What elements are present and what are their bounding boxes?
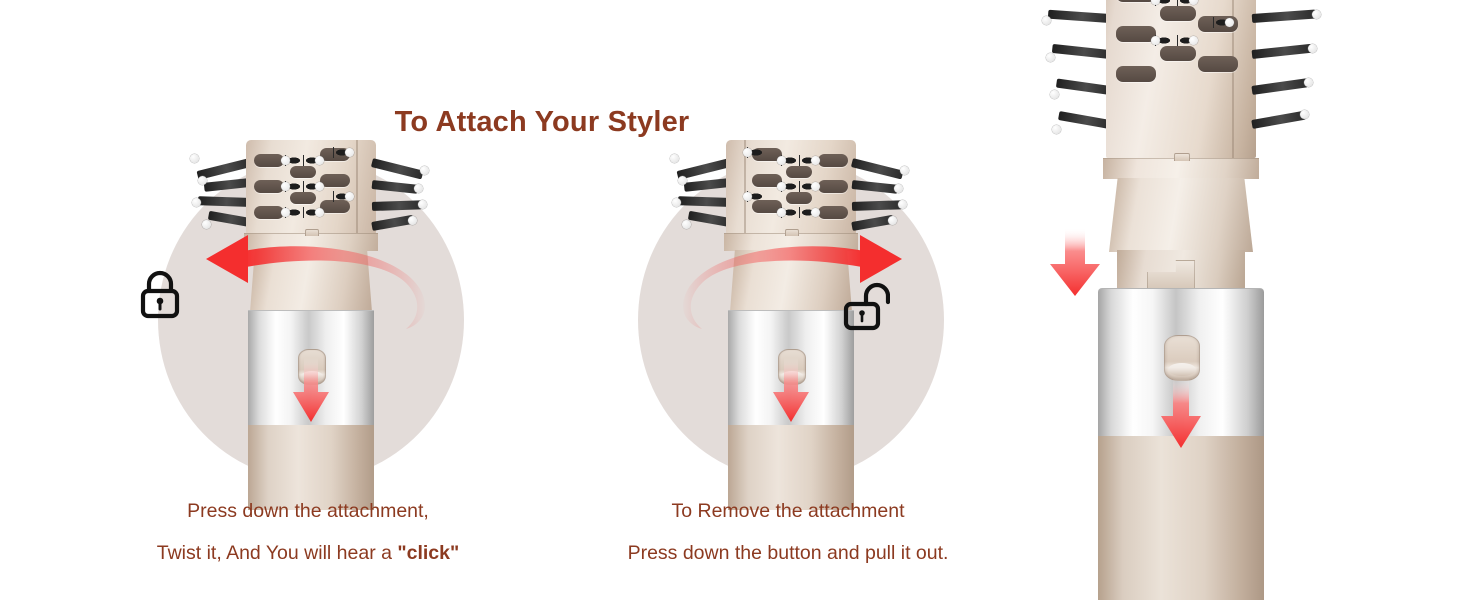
attachment-collar <box>724 233 858 251</box>
caption-line-2-text: Twist it, And You will hear a <box>157 542 398 564</box>
caption-line-2: Twist it, And You will hear a "click" <box>108 532 508 574</box>
brush-head <box>726 140 856 235</box>
caption-line-1: Press down the attachment, <box>108 490 508 532</box>
hero-release-button[interactable] <box>1164 335 1200 381</box>
hero-attachment-collar <box>1103 158 1259 179</box>
page-title: To Attach Your Styler <box>0 106 1084 139</box>
step-panel-attach: Press down the attachment, Twist it, And… <box>108 160 508 570</box>
instruction-graphic: To Attach Your Styler <box>0 0 1464 600</box>
caption-line-2: Press down the button and pull it out. <box>588 532 988 574</box>
collar-nub <box>1174 153 1190 161</box>
press-down-arrow <box>772 358 810 424</box>
caption-emphasis: "click" <box>397 542 459 564</box>
padlock-closed-icon <box>136 270 184 320</box>
connector-notch <box>1147 260 1195 290</box>
styler-illustration-remove <box>638 140 944 485</box>
styler-illustration-attach <box>158 140 464 485</box>
hero-attachment-connector <box>1117 250 1245 288</box>
hero-brush-head <box>1106 0 1256 158</box>
hero-handle-gold-body <box>1098 436 1264 600</box>
product-hero-image <box>1010 0 1464 600</box>
press-button-down-arrow <box>1159 378 1203 450</box>
press-down-arrow <box>292 358 330 424</box>
step-caption-remove: To Remove the attachment Press down the … <box>588 490 988 574</box>
hero-attachment-taper <box>1109 178 1253 252</box>
padlock-open-icon <box>842 282 890 332</box>
collar-nub <box>305 229 319 236</box>
attachment-taper <box>250 250 372 312</box>
attachment-collar <box>244 233 378 251</box>
step-caption-attach: Press down the attachment, Twist it, And… <box>108 490 508 574</box>
collar-nub <box>785 229 799 236</box>
attachment-taper <box>730 250 852 312</box>
step-panel-remove: To Remove the attachment Press down the … <box>588 160 988 570</box>
brush-head <box>246 140 376 235</box>
caption-line-1: To Remove the attachment <box>588 490 988 532</box>
brush-seam <box>356 140 358 235</box>
caption-line-2-text: Press down the button and pull it out. <box>628 542 949 564</box>
detach-down-arrow <box>1048 228 1102 298</box>
